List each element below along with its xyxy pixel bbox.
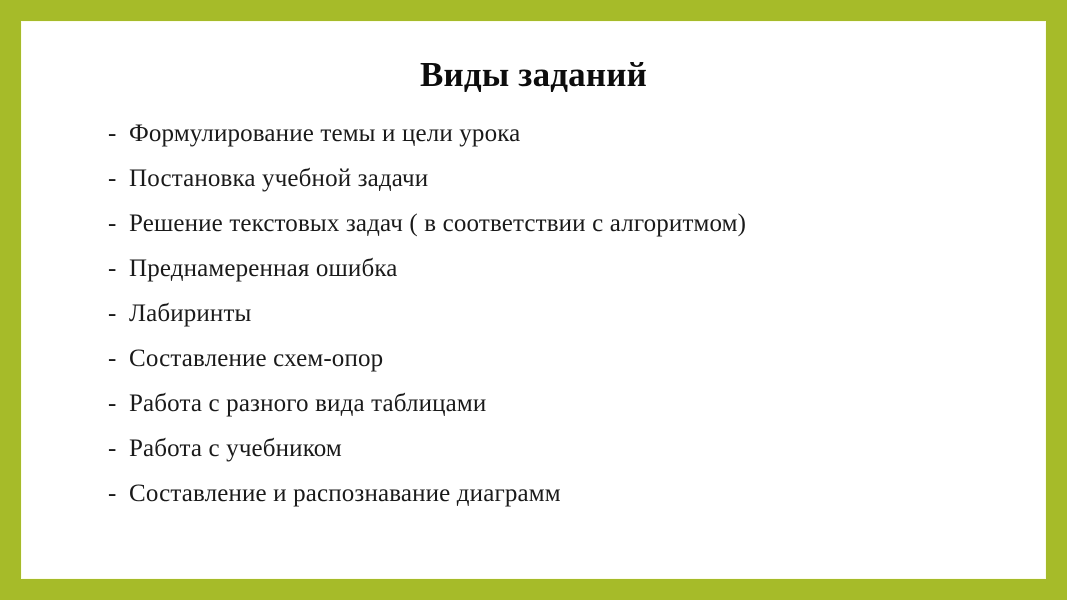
list-item: -Работа с учебником [108, 426, 1027, 471]
list-item: -Решение текстовых задач ( в соответстви… [108, 201, 1027, 246]
list-item-label: Составление схем-опор [129, 345, 383, 372]
bullet-dash-icon: - [108, 246, 129, 291]
page-title: Виды заданий [22, 55, 1045, 95]
list-item-label: Формулирование темы и цели урока [129, 120, 520, 147]
list-item-label: Решение текстовых задач ( в соответствии… [129, 210, 746, 237]
slide-frame: Виды заданий -Формулирование темы и цели… [0, 0, 1067, 600]
list-item: -Работа с разного вида таблицами [108, 381, 1027, 426]
list-item-label: Лабиринты [129, 300, 251, 327]
list-item: -Составление схем-опор [108, 336, 1027, 381]
list-item-label: Работа с учебником [129, 435, 342, 462]
list-item: -Преднамеренная ошибка [108, 246, 1027, 291]
list-item-label: Составление и распознавание диаграмм [129, 480, 561, 507]
list-item-label: Постановка учебной задачи [129, 165, 428, 192]
list-item-label: Работа с разного вида таблицами [129, 390, 486, 417]
list-item: -Постановка учебной задачи [108, 156, 1027, 201]
list-item: -Составление и распознавание диаграмм [108, 471, 1027, 516]
bullet-dash-icon: - [108, 111, 129, 156]
list-item-label: Преднамеренная ошибка [129, 255, 398, 282]
list-item: -Лабиринты [108, 291, 1027, 336]
bullet-dash-icon: - [108, 336, 129, 381]
bullet-dash-icon: - [108, 156, 129, 201]
list-item: -Формулирование темы и цели урока [108, 111, 1027, 156]
bullet-dash-icon: - [108, 471, 129, 516]
slide-content-area: Виды заданий -Формулирование темы и цели… [22, 22, 1045, 578]
bullet-dash-icon: - [108, 201, 129, 246]
bullet-dash-icon: - [108, 381, 129, 426]
bullet-dash-icon: - [108, 426, 129, 471]
bullet-dash-icon: - [108, 291, 129, 336]
task-type-list: -Формулирование темы и цели урока -Поста… [108, 111, 1027, 516]
